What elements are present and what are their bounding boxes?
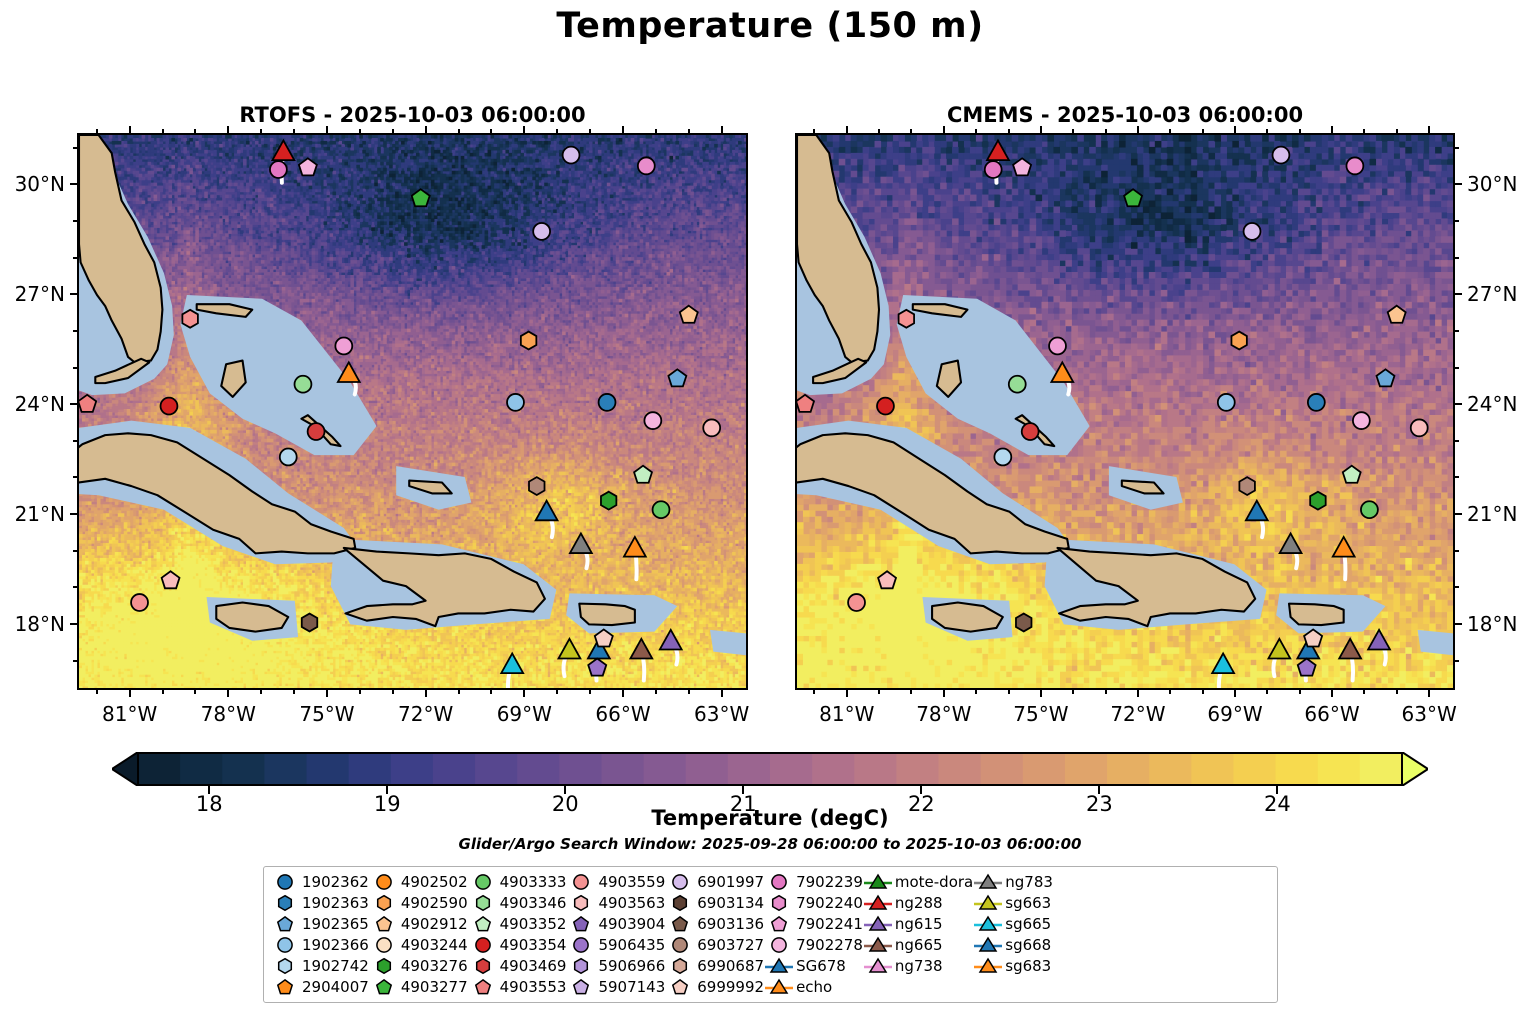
legend-label: sg665 <box>1003 915 1051 933</box>
legend-symbol <box>468 872 498 892</box>
legend-item-1902365[interactable]: 1902365 <box>270 914 369 934</box>
ytick-minor <box>1455 367 1459 369</box>
legend-symbol <box>566 935 596 955</box>
map-panel-rtofs[interactable]: RTOFS - 2025-10-03 06:00:00 <box>77 133 748 690</box>
legend-item-ng615[interactable]: ng615 <box>863 914 973 934</box>
xtick-label: 72°W <box>1110 702 1165 726</box>
map-canvas-cmems[interactable] <box>797 135 1453 688</box>
legend-item-sg683[interactable]: sg683 <box>973 956 1053 976</box>
legend-label: echo <box>794 978 832 996</box>
legend-label: 7902240 <box>794 894 863 912</box>
platform-legend[interactable]: 1902362190236319023651902366190274229040… <box>263 866 1278 1003</box>
legend-item-sg668[interactable]: sg668 <box>973 935 1053 955</box>
legend-label: ng288 <box>893 894 943 912</box>
legend-symbol <box>270 893 300 913</box>
legend-item-7902240[interactable]: 7902240 <box>764 893 863 913</box>
ytick-label-left: 21°N <box>15 502 65 526</box>
legend-symbol <box>468 893 498 913</box>
legend-item-4903559[interactable]: 4903559 <box>566 872 665 892</box>
xtick-minor <box>490 690 492 694</box>
legend-symbol <box>270 914 300 934</box>
ytick-minor <box>1455 220 1459 222</box>
xtick-top-minor <box>1363 129 1365 133</box>
legend-symbol <box>973 956 1003 976</box>
ytick-label-left: 27°N <box>15 282 65 306</box>
xtick-label: 69°W <box>497 702 552 726</box>
xtick-top-minor <box>96 129 98 133</box>
xtick-minor <box>1396 690 1398 694</box>
legend-item-ng665[interactable]: ng665 <box>863 935 973 955</box>
legend-item-6901997[interactable]: 6901997 <box>665 872 764 892</box>
legend-column: 4902502490259049029124903244490327649032… <box>369 872 468 997</box>
legend-column: 6901997690313469031366903727699068769999… <box>665 872 764 997</box>
xtick-minor <box>655 690 657 694</box>
ytick-label-left: 30°N <box>15 172 65 196</box>
xtick-minor <box>1105 690 1107 694</box>
xtick-minor <box>910 690 912 694</box>
legend-item-4903469[interactable]: 4903469 <box>468 956 567 976</box>
legend-symbol <box>468 935 498 955</box>
legend-symbol <box>863 956 893 976</box>
argo-pentagon-icon <box>374 914 394 934</box>
legend-item-4902590[interactable]: 4902590 <box>369 893 468 913</box>
xtick-label: 72°W <box>398 702 453 726</box>
legend-symbol <box>764 914 794 934</box>
legend-label: sg668 <box>1003 936 1051 954</box>
legend-label: 7902278 <box>794 936 863 954</box>
xtick-label: 78°W <box>201 702 256 726</box>
legend-item-1902742[interactable]: 1902742 <box>270 956 369 976</box>
xtick-top-minor <box>293 129 295 133</box>
legend-label: 1902363 <box>300 894 369 912</box>
xtick-top-minor <box>813 129 815 133</box>
xtick-major <box>425 690 427 697</box>
legend-item-5907143[interactable]: 5907143 <box>566 977 665 997</box>
argo-circle-icon <box>473 935 493 955</box>
legend-item-ng738[interactable]: ng738 <box>863 956 973 976</box>
legend-label: 6903136 <box>695 915 764 933</box>
ytick-label-right: 18°N <box>1467 612 1517 636</box>
ytick-major <box>1455 293 1462 295</box>
argo-hexagon-icon <box>571 893 591 913</box>
glider-marker-icon <box>863 893 893 913</box>
glider-marker-icon <box>863 935 893 955</box>
argo-hexagon-icon <box>275 893 295 913</box>
legend-item-7902239[interactable]: 7902239 <box>764 872 863 892</box>
ytick-label-right: 30°N <box>1467 172 1517 196</box>
legend-item-6990687[interactable]: 6990687 <box>665 956 764 976</box>
argo-hexagon-icon <box>670 956 690 976</box>
legend-label: 7902241 <box>794 915 863 933</box>
legend-column: 7902239790224079022417902278SG678echo <box>764 872 863 997</box>
glider-marker-icon <box>764 977 794 997</box>
xtick-minor <box>96 690 98 694</box>
legend-item-1902363[interactable]: 1902363 <box>270 893 369 913</box>
ytick-minor <box>73 220 77 222</box>
argo-pentagon-icon <box>275 914 295 934</box>
xtick-major <box>846 690 848 697</box>
argo-pentagon-icon <box>670 977 690 997</box>
xtick-major <box>622 690 624 697</box>
argo-hexagon-icon <box>275 956 295 976</box>
legend-label: sg663 <box>1003 894 1051 912</box>
legend-label: 2904007 <box>300 978 369 996</box>
xtick-top <box>523 126 525 133</box>
xtick-label: 81°W <box>102 702 157 726</box>
legend-item-6903134[interactable]: 6903134 <box>665 893 764 913</box>
legend-label: 4903333 <box>498 873 567 891</box>
xtick-minor <box>1266 690 1268 694</box>
legend-item-echo[interactable]: echo <box>764 977 863 997</box>
legend-label: 7902239 <box>794 873 863 891</box>
legend-symbol <box>369 914 399 934</box>
legend-item-2904007[interactable]: 2904007 <box>270 977 369 997</box>
legend-label: 4903563 <box>596 894 665 912</box>
xtick-top-minor <box>1202 129 1204 133</box>
xtick-minor <box>1169 690 1171 694</box>
ytick-minor <box>73 550 77 552</box>
legend-symbol <box>665 956 695 976</box>
legend-item-5906435[interactable]: 5906435 <box>566 935 665 955</box>
legend-label: 4902590 <box>399 894 468 912</box>
legend-label: ng738 <box>893 957 943 975</box>
legend-item-4903904[interactable]: 4903904 <box>566 914 665 934</box>
ytick-minor <box>1455 550 1459 552</box>
ytick-minor <box>1455 586 1459 588</box>
argo-pentagon-icon <box>473 977 493 997</box>
legend-symbol <box>665 914 695 934</box>
xtick-top <box>622 126 624 133</box>
legend-label: 6990687 <box>695 957 764 975</box>
xtick-top-minor <box>975 129 977 133</box>
legend-symbol <box>369 935 399 955</box>
xtick-top-minor <box>359 129 361 133</box>
legend-symbol <box>270 872 300 892</box>
legend-symbol <box>863 914 893 934</box>
ytick-major <box>1455 403 1462 405</box>
xtick-top-minor <box>556 129 558 133</box>
argo-hexagon-icon <box>473 956 493 976</box>
legend-symbol <box>863 935 893 955</box>
legend-item-4903354[interactable]: 4903354 <box>468 935 567 955</box>
glider-marker-icon <box>863 872 893 892</box>
xtick-minor <box>878 690 880 694</box>
xtick-major <box>1428 690 1430 697</box>
xtick-top <box>425 126 427 133</box>
xtick-major <box>326 690 328 697</box>
legend-symbol <box>566 977 596 997</box>
xtick-top-minor <box>162 129 164 133</box>
legend-label: mote-dora <box>893 873 973 891</box>
argo-hexagon-icon <box>670 893 690 913</box>
legend-label: 4903553 <box>498 978 567 996</box>
legend-item-4903276[interactable]: 4903276 <box>369 956 468 976</box>
map-panel-cmems[interactable]: CMEMS - 2025-10-03 06:00:00 <box>795 133 1455 690</box>
legend-label: 6901997 <box>695 873 764 891</box>
legend-label: 5907143 <box>596 978 665 996</box>
argo-circle-icon <box>670 872 690 892</box>
legend-symbol <box>665 893 695 913</box>
page-title: Temperature (150 m) <box>0 6 1540 46</box>
legend-symbol <box>270 935 300 955</box>
ytick-label-left: 24°N <box>15 392 65 416</box>
argo-circle-icon <box>670 935 690 955</box>
argo-pentagon-icon <box>769 914 789 934</box>
legend-symbol <box>863 893 893 913</box>
xtick-label: 81°W <box>819 702 874 726</box>
argo-pentagon-icon <box>571 914 591 934</box>
xtick-top-minor <box>1169 129 1171 133</box>
xtick-top-minor <box>910 129 912 133</box>
xtick-top-minor <box>1072 129 1074 133</box>
glider-marker-icon <box>863 956 893 976</box>
legend-item-sg663[interactable]: sg663 <box>973 893 1053 913</box>
ytick-minor <box>1455 660 1459 662</box>
argo-pentagon-icon <box>670 914 690 934</box>
argo-pentagon-icon <box>473 914 493 934</box>
ytick-minor <box>1455 147 1459 149</box>
legend-column: mote-dorang288ng615ng665ng738 <box>863 872 973 997</box>
ytick-minor <box>73 660 77 662</box>
xtick-major <box>1234 690 1236 697</box>
argo-circle-icon <box>275 872 295 892</box>
xtick-top-minor <box>490 129 492 133</box>
xtick-top-minor <box>1105 129 1107 133</box>
colorbar-gradient <box>112 752 1428 786</box>
xtick-label: 78°W <box>916 702 971 726</box>
ytick-major <box>70 183 77 185</box>
legend-label: 5906435 <box>596 936 665 954</box>
legend-symbol <box>764 977 794 997</box>
xtick-top-minor <box>260 129 262 133</box>
legend-symbol <box>566 956 596 976</box>
legend-item-ng288[interactable]: ng288 <box>863 893 973 913</box>
xtick-minor <box>556 690 558 694</box>
xtick-top-minor <box>194 129 196 133</box>
xtick-top-minor <box>655 129 657 133</box>
xtick-minor <box>1202 690 1204 694</box>
legend-label: 4903904 <box>596 915 665 933</box>
legend-symbol <box>973 914 1003 934</box>
xtick-top-minor <box>1396 129 1398 133</box>
xtick-label: 66°W <box>1304 702 1359 726</box>
panel-title-rtofs: RTOFS - 2025-10-03 06:00:00 <box>77 103 748 127</box>
xtick-top-minor <box>1266 129 1268 133</box>
map-frame-cmems[interactable] <box>795 133 1455 690</box>
xtick-minor <box>359 690 361 694</box>
legend-symbol <box>973 935 1003 955</box>
legend-label: 4903277 <box>399 978 468 996</box>
legend-column: 4903333490334649033524903354490346949035… <box>468 872 567 997</box>
legend-symbol <box>566 914 596 934</box>
legend-item-4903277[interactable]: 4903277 <box>369 977 468 997</box>
xtick-top-minor <box>1008 129 1010 133</box>
argo-circle-icon <box>275 935 295 955</box>
argo-hexagon-icon <box>473 893 493 913</box>
legend-item-4903346[interactable]: 4903346 <box>468 893 567 913</box>
legend-symbol <box>665 935 695 955</box>
xtick-major <box>1137 690 1139 697</box>
legend-item-4903333[interactable]: 4903333 <box>468 872 567 892</box>
glider-marker-icon <box>973 893 1003 913</box>
legend-item-4902912[interactable]: 4902912 <box>369 914 468 934</box>
xtick-top <box>1040 126 1042 133</box>
ytick-minor <box>73 367 77 369</box>
legend-symbol <box>665 872 695 892</box>
xtick-top <box>1331 126 1333 133</box>
legend-symbol <box>566 872 596 892</box>
ytick-minor <box>1455 330 1459 332</box>
ytick-label-right: 27°N <box>1467 282 1517 306</box>
legend-symbol <box>764 893 794 913</box>
legend-item-4903244[interactable]: 4903244 <box>369 935 468 955</box>
xtick-minor <box>194 690 196 694</box>
xtick-minor <box>1008 690 1010 694</box>
legend-symbol <box>566 893 596 913</box>
legend-symbol <box>764 956 794 976</box>
colorbar-title: Temperature (degC) <box>0 806 1540 830</box>
argo-circle-icon <box>374 935 394 955</box>
argo-hexagon-icon <box>374 956 394 976</box>
legend-label: 4902912 <box>399 915 468 933</box>
legend-label: 4903276 <box>399 957 468 975</box>
legend-symbol <box>665 977 695 997</box>
legend-item-6903136[interactable]: 6903136 <box>665 914 764 934</box>
xtick-label: 63°W <box>694 702 749 726</box>
legend-column: 4903559490356349039045906435590696659071… <box>566 872 665 997</box>
legend-label: 4903559 <box>596 873 665 891</box>
legend-symbol <box>468 914 498 934</box>
ytick-minor <box>73 330 77 332</box>
legend-symbol <box>973 872 1003 892</box>
xtick-minor <box>688 690 690 694</box>
legend-item-4903553[interactable]: 4903553 <box>468 977 567 997</box>
legend-label: 1902362 <box>300 873 369 891</box>
glider-marker-icon <box>973 914 1003 934</box>
glider-marker-icon <box>764 956 794 976</box>
xtick-top-minor <box>688 129 690 133</box>
legend-label: 6999992 <box>695 978 764 996</box>
xtick-top <box>326 126 328 133</box>
ytick-minor <box>73 257 77 259</box>
xtick-minor <box>162 690 164 694</box>
xtick-major <box>721 690 723 697</box>
legend-label: 1902365 <box>300 915 369 933</box>
panel-title-cmems: CMEMS - 2025-10-03 06:00:00 <box>795 103 1455 127</box>
xtick-minor <box>589 690 591 694</box>
map-canvas-rtofs[interactable] <box>79 135 746 688</box>
legend-symbol <box>468 956 498 976</box>
ytick-major <box>1455 183 1462 185</box>
legend-item-sg678[interactable]: SG678 <box>764 956 863 976</box>
legend-symbol <box>973 893 1003 913</box>
ytick-major <box>1455 513 1462 515</box>
legend-item-5906966[interactable]: 5906966 <box>566 956 665 976</box>
xtick-label: 75°W <box>1013 702 1068 726</box>
colorbar[interactable] <box>112 752 1428 786</box>
glider-marker-icon <box>973 935 1003 955</box>
argo-circle-icon <box>571 872 591 892</box>
legend-item-ng783[interactable]: ng783 <box>973 872 1053 892</box>
xtick-minor <box>293 690 295 694</box>
temperature-field-rtofs <box>79 135 746 688</box>
argo-pentagon-icon <box>275 977 295 997</box>
xtick-major <box>943 690 945 697</box>
ytick-major <box>70 513 77 515</box>
argo-circle-icon <box>374 872 394 892</box>
glider-marker-icon <box>863 914 893 934</box>
xtick-top-minor <box>458 129 460 133</box>
legend-item-6903727[interactable]: 6903727 <box>665 935 764 955</box>
glider-marker-icon <box>973 956 1003 976</box>
argo-pentagon-icon <box>374 977 394 997</box>
xtick-major <box>227 690 229 697</box>
ytick-minor <box>73 586 77 588</box>
legend-label: 4903352 <box>498 915 567 933</box>
legend-item-1902362[interactable]: 1902362 <box>270 872 369 892</box>
legend-label: ng665 <box>893 936 943 954</box>
argo-circle-icon <box>571 935 591 955</box>
legend-label: 5906966 <box>596 957 665 975</box>
legend-label: 6903134 <box>695 894 764 912</box>
ytick-minor <box>1455 257 1459 259</box>
legend-item-1902366[interactable]: 1902366 <box>270 935 369 955</box>
ytick-minor <box>73 147 77 149</box>
legend-label: SG678 <box>794 957 846 975</box>
legend-symbol <box>369 956 399 976</box>
xtick-top <box>721 126 723 133</box>
legend-item-7902278[interactable]: 7902278 <box>764 935 863 955</box>
ytick-minor <box>73 476 77 478</box>
argo-circle-icon <box>769 935 789 955</box>
legend-label: 4903469 <box>498 957 567 975</box>
legend-item-7902241[interactable]: 7902241 <box>764 914 863 934</box>
legend-label: 4903354 <box>498 936 567 954</box>
argo-hexagon-icon <box>571 956 591 976</box>
argo-circle-icon <box>473 872 493 892</box>
legend-symbol <box>369 872 399 892</box>
xtick-minor <box>1363 690 1365 694</box>
legend-symbol <box>863 872 893 892</box>
legend-label: sg683 <box>1003 957 1051 975</box>
ytick-major <box>70 623 77 625</box>
legend-label: 6903727 <box>695 936 764 954</box>
legend-symbol <box>369 893 399 913</box>
ytick-major <box>70 403 77 405</box>
legend-symbol <box>270 977 300 997</box>
legend-label: 1902742 <box>300 957 369 975</box>
legend-item-mote-dora[interactable]: mote-dora <box>863 872 973 892</box>
legend-item-sg665[interactable]: sg665 <box>973 914 1053 934</box>
xtick-top-minor <box>1299 129 1301 133</box>
xtick-top <box>227 126 229 133</box>
legend-label: 1902366 <box>300 936 369 954</box>
legend-item-4903352[interactable]: 4903352 <box>468 914 567 934</box>
xtick-top <box>1234 126 1236 133</box>
legend-symbol <box>764 872 794 892</box>
argo-hexagon-icon <box>374 893 394 913</box>
legend-item-6999992[interactable]: 6999992 <box>665 977 764 997</box>
xtick-major <box>1331 690 1333 697</box>
legend-item-4903563[interactable]: 4903563 <box>566 893 665 913</box>
map-frame-rtofs[interactable] <box>77 133 748 690</box>
argo-pentagon-icon <box>571 977 591 997</box>
xtick-minor <box>1299 690 1301 694</box>
legend-column: 1902362190236319023651902366190274229040… <box>270 872 369 997</box>
legend-label: 4902502 <box>399 873 468 891</box>
legend-item-4902502[interactable]: 4902502 <box>369 872 468 892</box>
argo-circle-icon <box>769 872 789 892</box>
